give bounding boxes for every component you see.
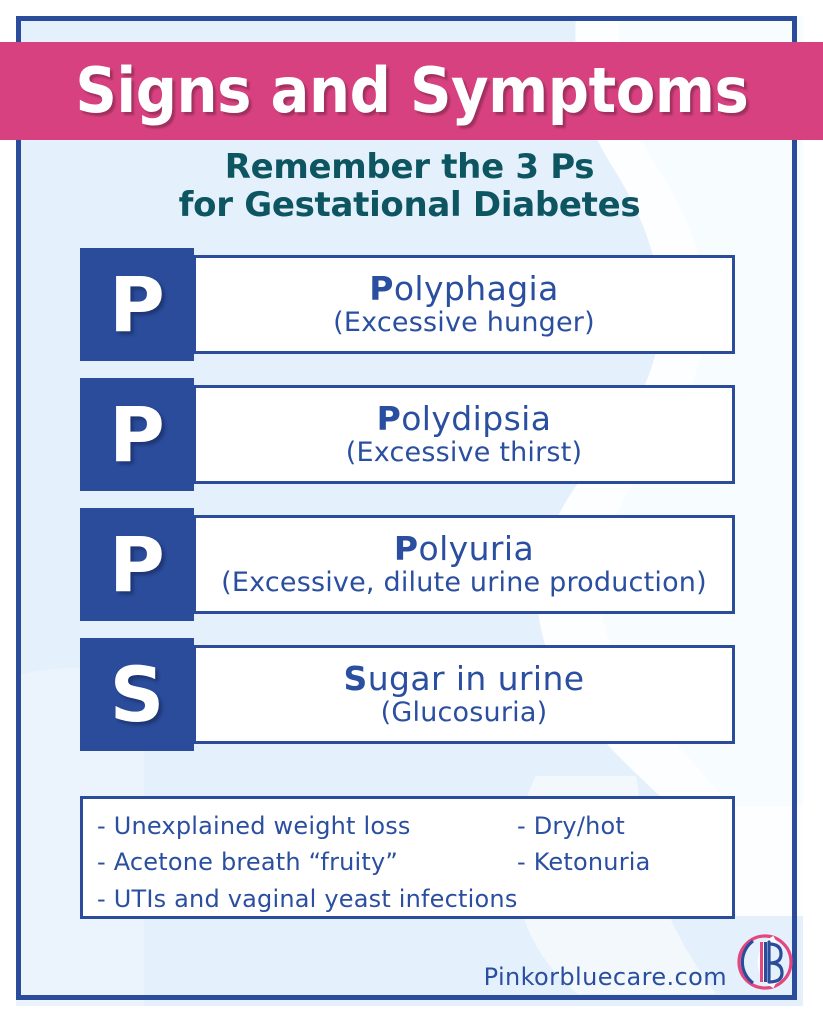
symptom-term-initial: P [377, 399, 402, 438]
symptom-box: Polydipsia (Excessive thirst) [193, 385, 735, 484]
symptom-term-initial: S [344, 659, 368, 698]
symptom-box: Polyphagia (Excessive hunger) [193, 255, 735, 354]
subtitle: Remember the 3 Ps for Gestational Diabet… [16, 148, 803, 224]
list-item-right: - Dry/hot [517, 808, 625, 844]
other-symptoms-box: - Unexplained weight loss - Dry/hot - Ac… [80, 796, 735, 919]
symptom-description: (Glucosuria) [381, 698, 548, 728]
subtitle-line-1: Remember the 3 Ps [16, 148, 803, 186]
symptom-term-initial: P [394, 529, 419, 568]
badge-letter: P [109, 397, 165, 473]
infographic-poster: Signs and Symptoms Remember the 3 Ps for… [0, 0, 823, 1024]
letter-badge: P [80, 508, 194, 621]
badge-letter: P [109, 527, 165, 603]
symptom-term: Sugar in urine [344, 661, 585, 697]
list-item-right: - Ketonuria [517, 844, 651, 880]
symptom-term: Polyuria [394, 531, 534, 567]
website-url: Pinkorbluecare.com [484, 963, 727, 991]
list-item-left: - Unexplained weight loss [97, 808, 517, 844]
title-banner: Signs and Symptoms [0, 42, 823, 140]
badge-letter: P [109, 267, 165, 343]
symptom-box: Polyuria (Excessive, dilute urine produc… [193, 515, 735, 614]
symptom-term-rest: olyuria [419, 529, 535, 568]
symptom-term-rest: olydipsia [401, 399, 551, 438]
list-item-left: - Acetone breath “fruity” [97, 844, 517, 880]
symptom-row: S Sugar in urine (Glucosuria) [0, 638, 823, 751]
symptom-row: P Polyphagia (Excessive hunger) [0, 248, 823, 361]
page-title: Signs and Symptoms [75, 60, 748, 122]
brand-logo-icon [731, 928, 799, 996]
badge-letter: S [110, 657, 165, 733]
list-item: - Unexplained weight loss - Dry/hot [97, 808, 732, 844]
list-item-left: - UTIs and vaginal yeast infections [97, 881, 517, 917]
symptom-description: (Excessive hunger) [333, 308, 595, 338]
letter-badge: P [80, 248, 194, 361]
subtitle-line-2: for Gestational Diabetes [16, 186, 803, 224]
symptom-term-rest: ugar in urine [368, 659, 585, 698]
symptom-box: Sugar in urine (Glucosuria) [193, 645, 735, 744]
symptom-row: P Polyuria (Excessive, dilute urine prod… [0, 508, 823, 621]
letter-badge: P [80, 378, 194, 491]
symptom-rows: P Polyphagia (Excessive hunger) P Polydi… [0, 248, 823, 768]
letter-badge: S [80, 638, 194, 751]
symptom-term: Polydipsia [377, 401, 552, 437]
symptom-term-rest: olyphagia [394, 269, 559, 308]
symptom-term: Polyphagia [369, 271, 559, 307]
list-item: - Acetone breath “fruity” - Ketonuria [97, 844, 732, 880]
symptom-row: P Polydipsia (Excessive thirst) [0, 378, 823, 491]
symptom-description: (Excessive thirst) [346, 438, 582, 468]
symptom-term-initial: P [369, 269, 394, 308]
list-item: - UTIs and vaginal yeast infections [97, 881, 732, 917]
symptom-description: (Excessive, dilute urine production) [221, 568, 707, 598]
footer: Pinkorbluecare.com [0, 955, 823, 999]
